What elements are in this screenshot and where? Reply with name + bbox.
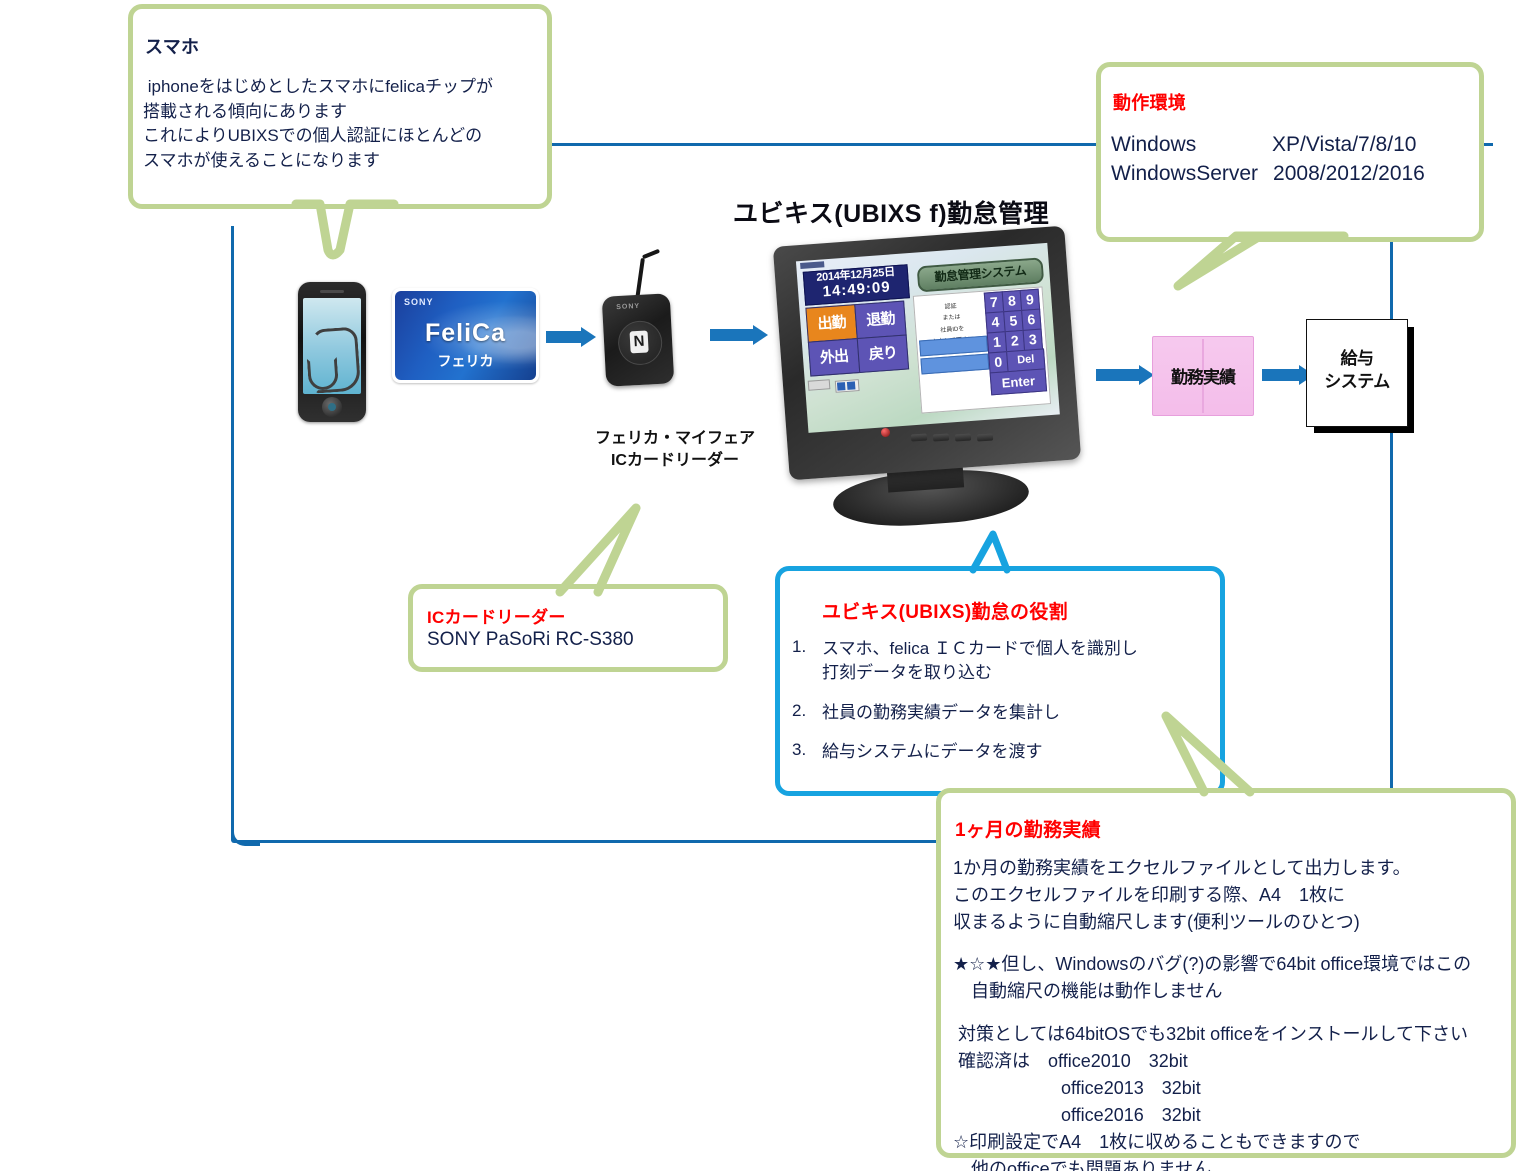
- timeclock-app: 2014年12月25日 14:49:09 勤怠管理システム 出勤 退勤 外出 戻…: [796, 243, 1060, 433]
- role-number: 2.: [792, 701, 822, 725]
- role-number: 3.: [792, 740, 822, 764]
- monitor-screen: 2014年12月25日 14:49:09 勤怠管理システム 出勤 退勤 外出 戻…: [796, 243, 1060, 433]
- felica-brand: SONY: [404, 297, 434, 307]
- felica-card-face: SONY FeliCa フェリカ: [395, 291, 536, 380]
- arrow-monitor-to-record: [1096, 365, 1154, 385]
- return-button[interactable]: 戻り: [857, 334, 909, 373]
- key-6[interactable]: 6: [1021, 309, 1041, 331]
- felica-kana: フェリカ: [395, 351, 536, 371]
- callout-environment-tail: [1100, 226, 1350, 304]
- callout-roles-title: ユビキス(UBIXS)勤怠の役割: [822, 597, 1068, 624]
- step-out-button[interactable]: 外出: [808, 338, 860, 377]
- callout-smartphone: スマホ iphoneをはじめとしたスマホにfelicaチップが 搭載される傾向に…: [128, 4, 552, 209]
- env-os: Windows: [1111, 133, 1272, 161]
- arrow-card-to-reader: [546, 327, 596, 347]
- callout-card-reader-tail: [540, 500, 670, 600]
- diagram-canvas: ユビキス(UBIXS f)勤怠管理 スマホ iphoneをはじめとしたスマホにf…: [0, 0, 1538, 1171]
- list-item: 1. スマホ、felica ＩＣカードで個人を識別し 打刻データを取り込む: [792, 637, 1210, 685]
- table-row: WindowsServer 2008/2012/2016: [1111, 161, 1426, 187]
- role-text: 給与システムにデータを渡す: [822, 740, 1043, 764]
- reader-cable-bend: [642, 249, 660, 259]
- work-record-book: 勤務実績: [1152, 336, 1254, 416]
- payroll-label: 給与 システム: [1307, 348, 1407, 394]
- clock-display: 2014年12月25日 14:49:09: [803, 264, 910, 306]
- punch-button-pad: 出勤 退勤 外出 戻り: [805, 300, 910, 377]
- phone-screen: [303, 298, 361, 394]
- id-input-field-secondary[interactable]: [920, 354, 989, 375]
- frame-line-right: [1390, 143, 1393, 803]
- role-text: スマホ、felica ＩＣカードで個人を識別し 打刻データを取り込む: [822, 637, 1138, 685]
- reader-label: フェリカ・マイフェア ICカードリーダー: [560, 428, 790, 471]
- smartphone-device: [298, 282, 366, 422]
- id-entry-panel: 認証 または 社員IDを 入力して下さい 7 8 9 4 5 6 1 2: [913, 286, 1051, 413]
- key-enter[interactable]: Enter: [990, 368, 1048, 395]
- role-number: 1.: [792, 637, 822, 685]
- doc-sheet: 給与 システム: [1306, 319, 1408, 427]
- monitor-bezel: 2014年12月25日 14:49:09 勤怠管理システム 出勤 退勤 外出 戻…: [773, 226, 1081, 481]
- numeric-keypad: 7 8 9 4 5 6 1 2 3 0 Del Enter: [984, 289, 1048, 407]
- frame-line-left: [231, 226, 234, 840]
- frame-corner-bottom-left: [231, 816, 260, 846]
- env-versions: 2008/2012/2016: [1272, 161, 1426, 187]
- phone-home-button: [322, 397, 342, 417]
- env-versions: XP/Vista/7/8/10: [1272, 133, 1426, 161]
- callout-monthly-tail: [1120, 700, 1310, 800]
- app-titlebar: [800, 261, 824, 269]
- work-record-label: 勤務実績: [1153, 363, 1253, 388]
- role-text: 社員の勤務実績データを集計し: [822, 701, 1060, 725]
- payroll-system-doc: 給与 システム: [1306, 319, 1414, 433]
- monitor-button-2[interactable]: [933, 433, 949, 441]
- punch-in-button[interactable]: 出勤: [805, 304, 857, 343]
- page-title: ユビキス(UBIXS f)勤怠管理: [733, 194, 1049, 230]
- taskbar-button[interactable]: [808, 379, 831, 391]
- frame-line-bottom: [231, 840, 976, 843]
- arrow-reader-to-monitor: [710, 325, 768, 345]
- ic-card-reader-device: SONY N: [602, 293, 675, 386]
- key-3[interactable]: 3: [1023, 329, 1043, 351]
- callout-monthly-title: 1ヶ月の勤務実績: [955, 815, 1101, 842]
- environment-table: Windows XP/Vista/7/8/10 WindowsServer 20…: [1111, 133, 1426, 187]
- monitor-button-1[interactable]: [911, 433, 927, 441]
- env-os: WindowsServer: [1111, 161, 1272, 187]
- callout-smartphone-tail: [286, 198, 406, 270]
- key-9[interactable]: 9: [1020, 289, 1040, 311]
- monitor-button-3[interactable]: [955, 433, 971, 441]
- callout-smartphone-body: iphoneをはじめとしたスマホにfelicaチップが 搭載される傾向にあります…: [143, 75, 493, 174]
- callout-monthly-para3: 対策としては64bitOSでも32bit officeをインストールして下さい …: [953, 1021, 1468, 1171]
- monitor-button-4[interactable]: [977, 433, 993, 441]
- nfc-icon: N: [630, 330, 649, 353]
- table-row: Windows XP/Vista/7/8/10: [1111, 133, 1426, 161]
- callout-environment: 動作環境 Windows XP/Vista/7/8/10 WindowsServ…: [1096, 62, 1484, 242]
- callout-card-reader-body: SONY PaSoRi RC-S380: [427, 629, 634, 651]
- callout-monthly-para1: 1か月の勤務実績をエクセルファイルとして出力します。 このエクセルファイルを印刷…: [953, 855, 1411, 936]
- felica-card: SONY FeliCa フェリカ: [392, 288, 539, 383]
- callout-monthly-record: 1ヶ月の勤務実績 1か月の勤務実績をエクセルファイルとして出力します。 このエク…: [936, 788, 1516, 1158]
- callout-monthly-para2: ★☆★但し、Windowsのバグ(?)の影響で64bit office環境ではこ…: [953, 951, 1471, 1005]
- callout-card-reader-title: ICカードリーダー: [427, 603, 566, 628]
- phone-swirl-icon: [311, 326, 361, 393]
- callout-smartphone-title: スマホ: [145, 33, 199, 59]
- punch-out-button[interactable]: 退勤: [854, 301, 906, 340]
- time-clock-monitor: 2014年12月25日 14:49:09 勤怠管理システム 出勤 退勤 外出 戻…: [775, 228, 1095, 538]
- felica-logo: FeliCa: [395, 319, 536, 348]
- reader-brand: SONY: [616, 303, 640, 311]
- callout-environment-title: 動作環境: [1113, 89, 1186, 115]
- phone-speaker-icon: [320, 290, 344, 293]
- ime-indicator-icon: [835, 379, 860, 393]
